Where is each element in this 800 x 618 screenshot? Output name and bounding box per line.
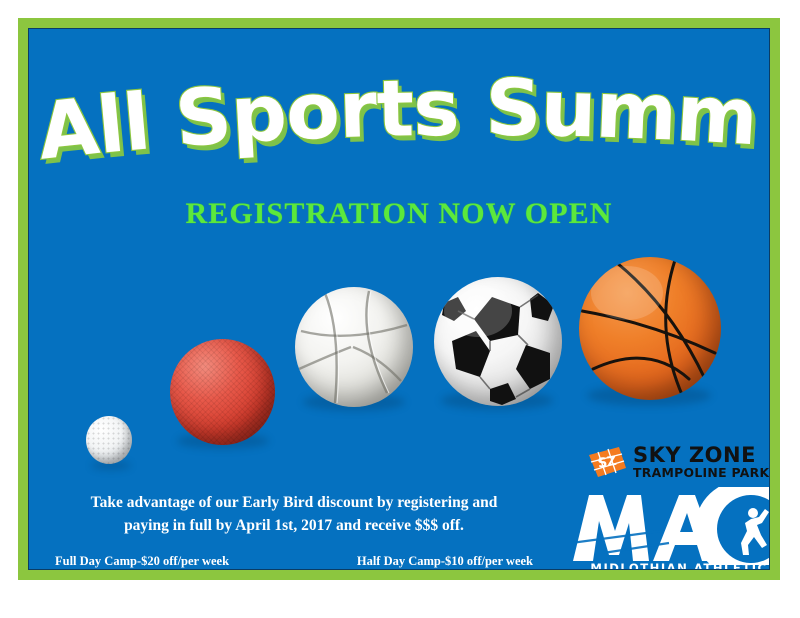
sky-zone-wordmark: SKY ZONE TRAMPOLINE PARK	[633, 445, 769, 479]
soccer-ball-image	[434, 277, 562, 406]
title-main-text: All Sports Summer Camp	[28, 28, 759, 178]
page-title: All Sports Summer Camp All Sports Summer…	[29, 67, 769, 177]
sky-zone-top-line: SKY ZONE	[633, 445, 769, 466]
promo-line-2: paying in full by April 1st, 2017 and re…	[49, 514, 539, 537]
title-artwork: All Sports Summer Camp All Sports Summer…	[29, 67, 769, 177]
sky-zone-logo: SZ SKY ZONE TRAMPOLINE PARK	[585, 441, 770, 483]
basketball-image	[579, 257, 721, 400]
kickball-shadow	[177, 433, 269, 449]
flyer-canvas: All Sports Summer Camp All Sports Summer…	[0, 0, 800, 618]
basketball-shadow	[587, 385, 711, 406]
full-day-price: Full Day Camp-$20 off/per week	[55, 554, 229, 569]
basketball-seams	[579, 257, 721, 400]
runner-figure-icon	[741, 508, 769, 555]
svg-text:SZ: SZ	[597, 454, 618, 472]
kickball-texture	[170, 339, 275, 445]
mac-wordmark-icon	[569, 487, 770, 565]
golf-ball-shadow	[91, 461, 131, 470]
poster-blue-field: All Sports Summer Camp All Sports Summer…	[28, 28, 770, 570]
poster-green-border: All Sports Summer Camp All Sports Summer…	[18, 18, 780, 580]
soccer-ball-panels	[434, 277, 562, 406]
golf-ball-image	[86, 416, 132, 464]
sky-zone-bottom-line: TRAMPOLINE PARK	[633, 467, 769, 479]
registration-subtitle: REGISTRATION NOW OPEN	[29, 197, 769, 231]
soccer-ball-shadow	[441, 391, 553, 410]
promo-text-block: Take advantage of our Early Bird discoun…	[49, 491, 539, 538]
mac-logo: MIDLOTHIAN ATHLETIC CLUB	[569, 487, 770, 570]
mac-subtitle: MIDLOTHIAN ATHLETIC CLUB	[569, 561, 770, 570]
promo-line-1: Take advantage of our Early Bird discoun…	[49, 491, 539, 514]
camp-prices-row: Full Day Camp-$20 off/per week Half Day …	[49, 554, 539, 569]
kickball-image	[170, 339, 275, 445]
volleyball-shadow	[303, 393, 405, 411]
volleyball-seams	[295, 287, 413, 407]
sky-zone-mark-icon: SZ	[585, 446, 627, 478]
title-shadow-text: All Sports Summer Camp	[28, 28, 763, 183]
half-day-price: Half Day Camp-$10 off/per week	[357, 554, 533, 569]
volleyball-image	[295, 287, 413, 407]
golf-ball-dimples	[86, 416, 132, 464]
